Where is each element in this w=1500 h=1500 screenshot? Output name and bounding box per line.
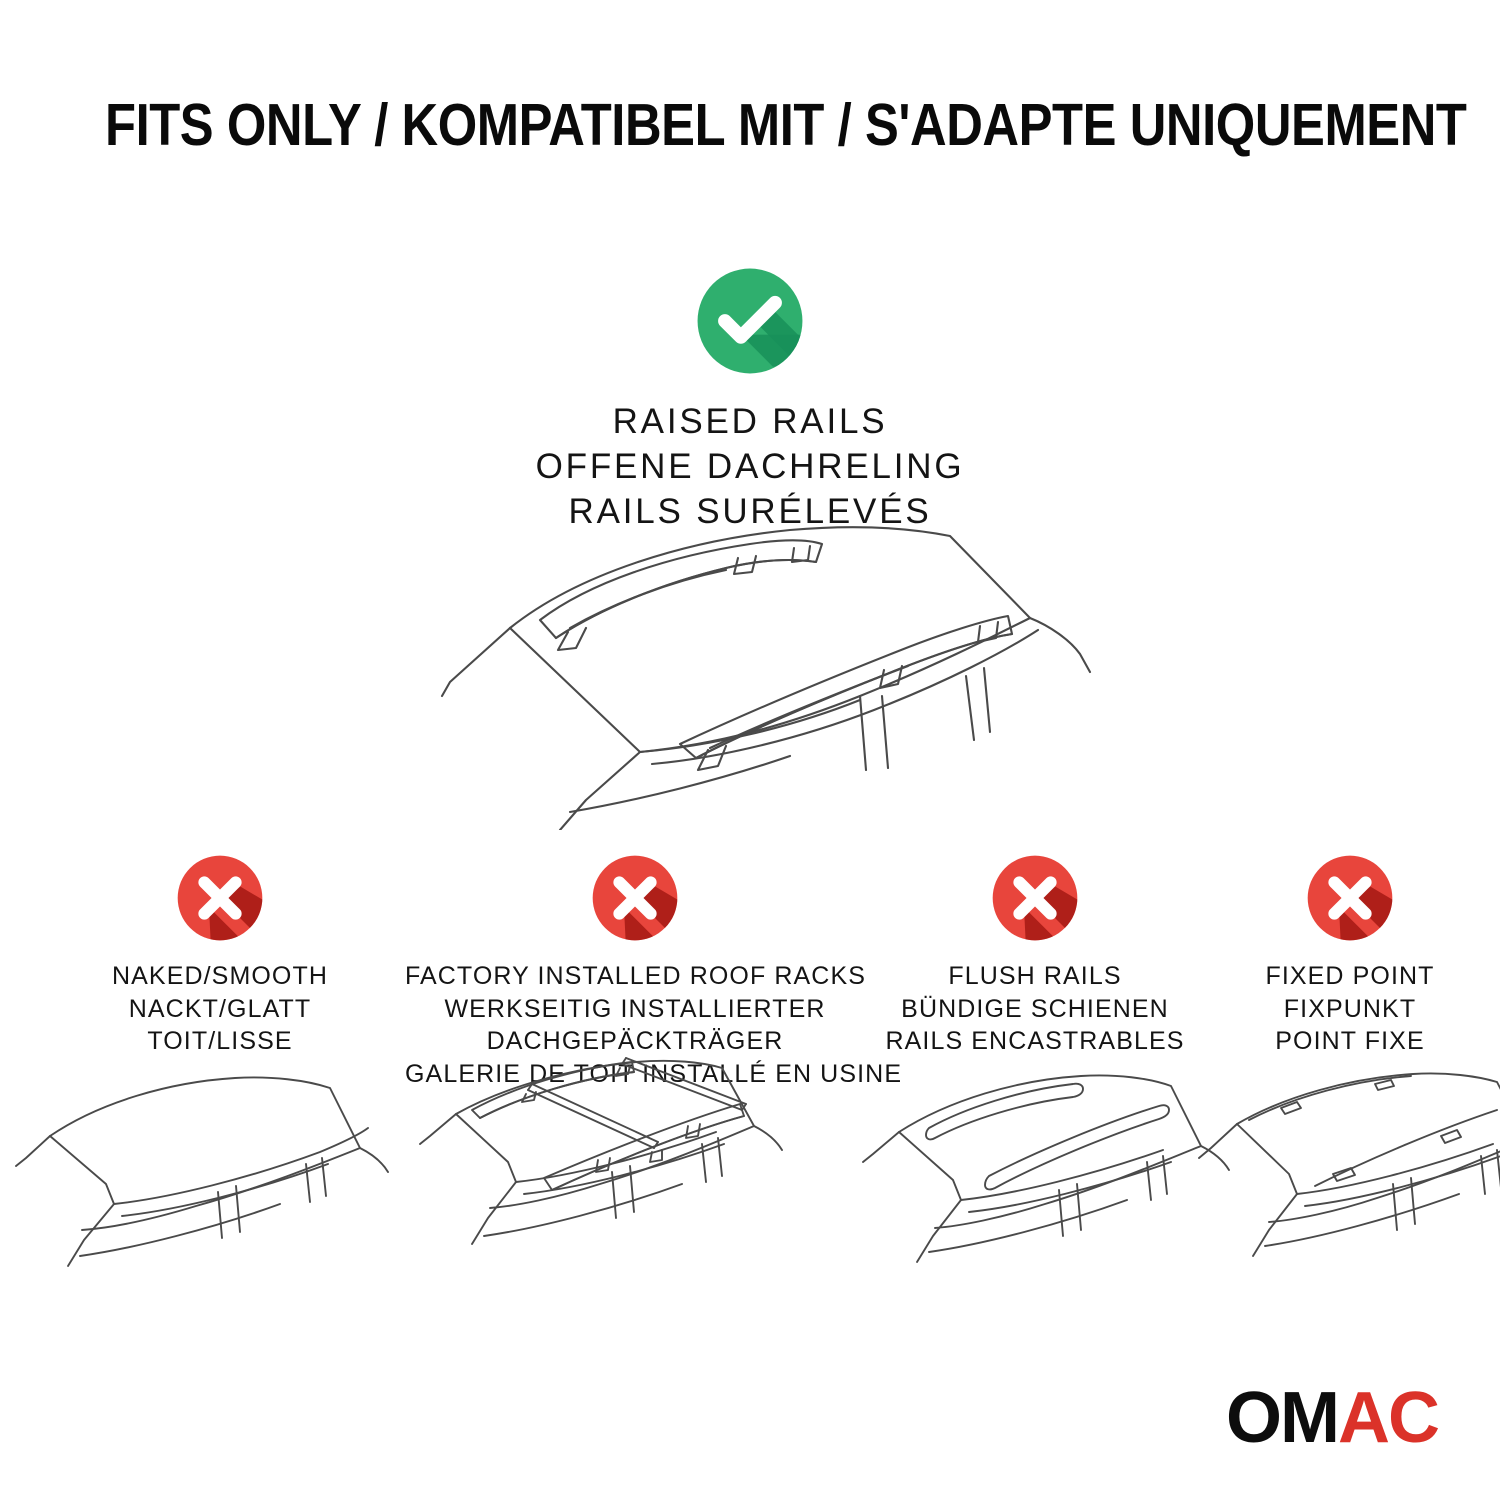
check-circle-icon [693, 264, 807, 378]
logo-text-accent: AC [1338, 1382, 1438, 1454]
omac-logo: OM AC [1226, 1382, 1438, 1454]
label-line-fr: TOIT/LISSE [20, 1025, 420, 1058]
label-line-de: NACKT/GLATT [20, 993, 420, 1026]
incompatible-column-factory-racks: FACTORY INSTALLED ROOF RACKS WERKSEITIG … [405, 852, 865, 1090]
incompatible-labels: FLUSH RAILS BÜNDIGE SCHIENEN RAILS ENCAS… [855, 960, 1215, 1058]
car-roof-fixed-point-illustration [1185, 1060, 1500, 1290]
label-line-fr: POINT FIXE [1205, 1025, 1495, 1058]
label-line-fr: RAILS ENCASTRABLES [855, 1025, 1215, 1058]
x-circle-icon [589, 852, 681, 944]
car-roof-flush-rails-illustration [855, 1060, 1235, 1290]
label-line-de: FIXPUNKT [1205, 993, 1495, 1026]
label-line-en: NAKED/SMOOTH [20, 960, 420, 993]
label-line-de: BÜNDIGE SCHIENEN [855, 993, 1215, 1026]
label-line-en: FIXED POINT [1205, 960, 1495, 993]
incompatible-column-naked-smooth: NAKED/SMOOTH NACKT/GLATT TOIT/LISSE [20, 852, 420, 1058]
incompatible-column-fixed-point: FIXED POINT FIXPUNKT POINT FIXE [1205, 852, 1495, 1058]
label-line-de-1: WERKSEITIG INSTALLIERTER [405, 993, 865, 1026]
compatible-section: RAISED RAILS OFFENE DACHRELING RAILS SUR… [0, 264, 1500, 534]
incompatible-labels: FIXED POINT FIXPUNKT POINT FIXE [1205, 960, 1495, 1058]
incompatible-labels: NAKED/SMOOTH NACKT/GLATT TOIT/LISSE [20, 960, 420, 1058]
car-roof-raised-rails-illustration [390, 500, 1110, 830]
x-circle-icon [1304, 852, 1396, 944]
x-circle-icon [174, 852, 266, 944]
compatible-label-en: RAISED RAILS [0, 400, 1500, 445]
page-title: FITS ONLY / KOMPATIBEL MIT / S'ADAPTE UN… [105, 96, 1395, 155]
incompatible-section: NAKED/SMOOTH NACKT/GLATT TOIT/LISSE [0, 852, 1500, 1302]
compatible-label-de: OFFENE DACHRELING [0, 445, 1500, 490]
x-circle-icon [989, 852, 1081, 944]
logo-text-dark: OM [1226, 1382, 1338, 1454]
car-roof-naked-illustration [10, 1060, 400, 1290]
car-roof-factory-racks-illustration [410, 1052, 800, 1282]
label-line-en: FACTORY INSTALLED ROOF RACKS [405, 960, 865, 993]
page-header: FITS ONLY / KOMPATIBEL MIT / S'ADAPTE UN… [0, 96, 1500, 155]
label-line-en: FLUSH RAILS [855, 960, 1215, 993]
incompatible-column-flush-rails: FLUSH RAILS BÜNDIGE SCHIENEN RAILS ENCAS… [855, 852, 1215, 1058]
